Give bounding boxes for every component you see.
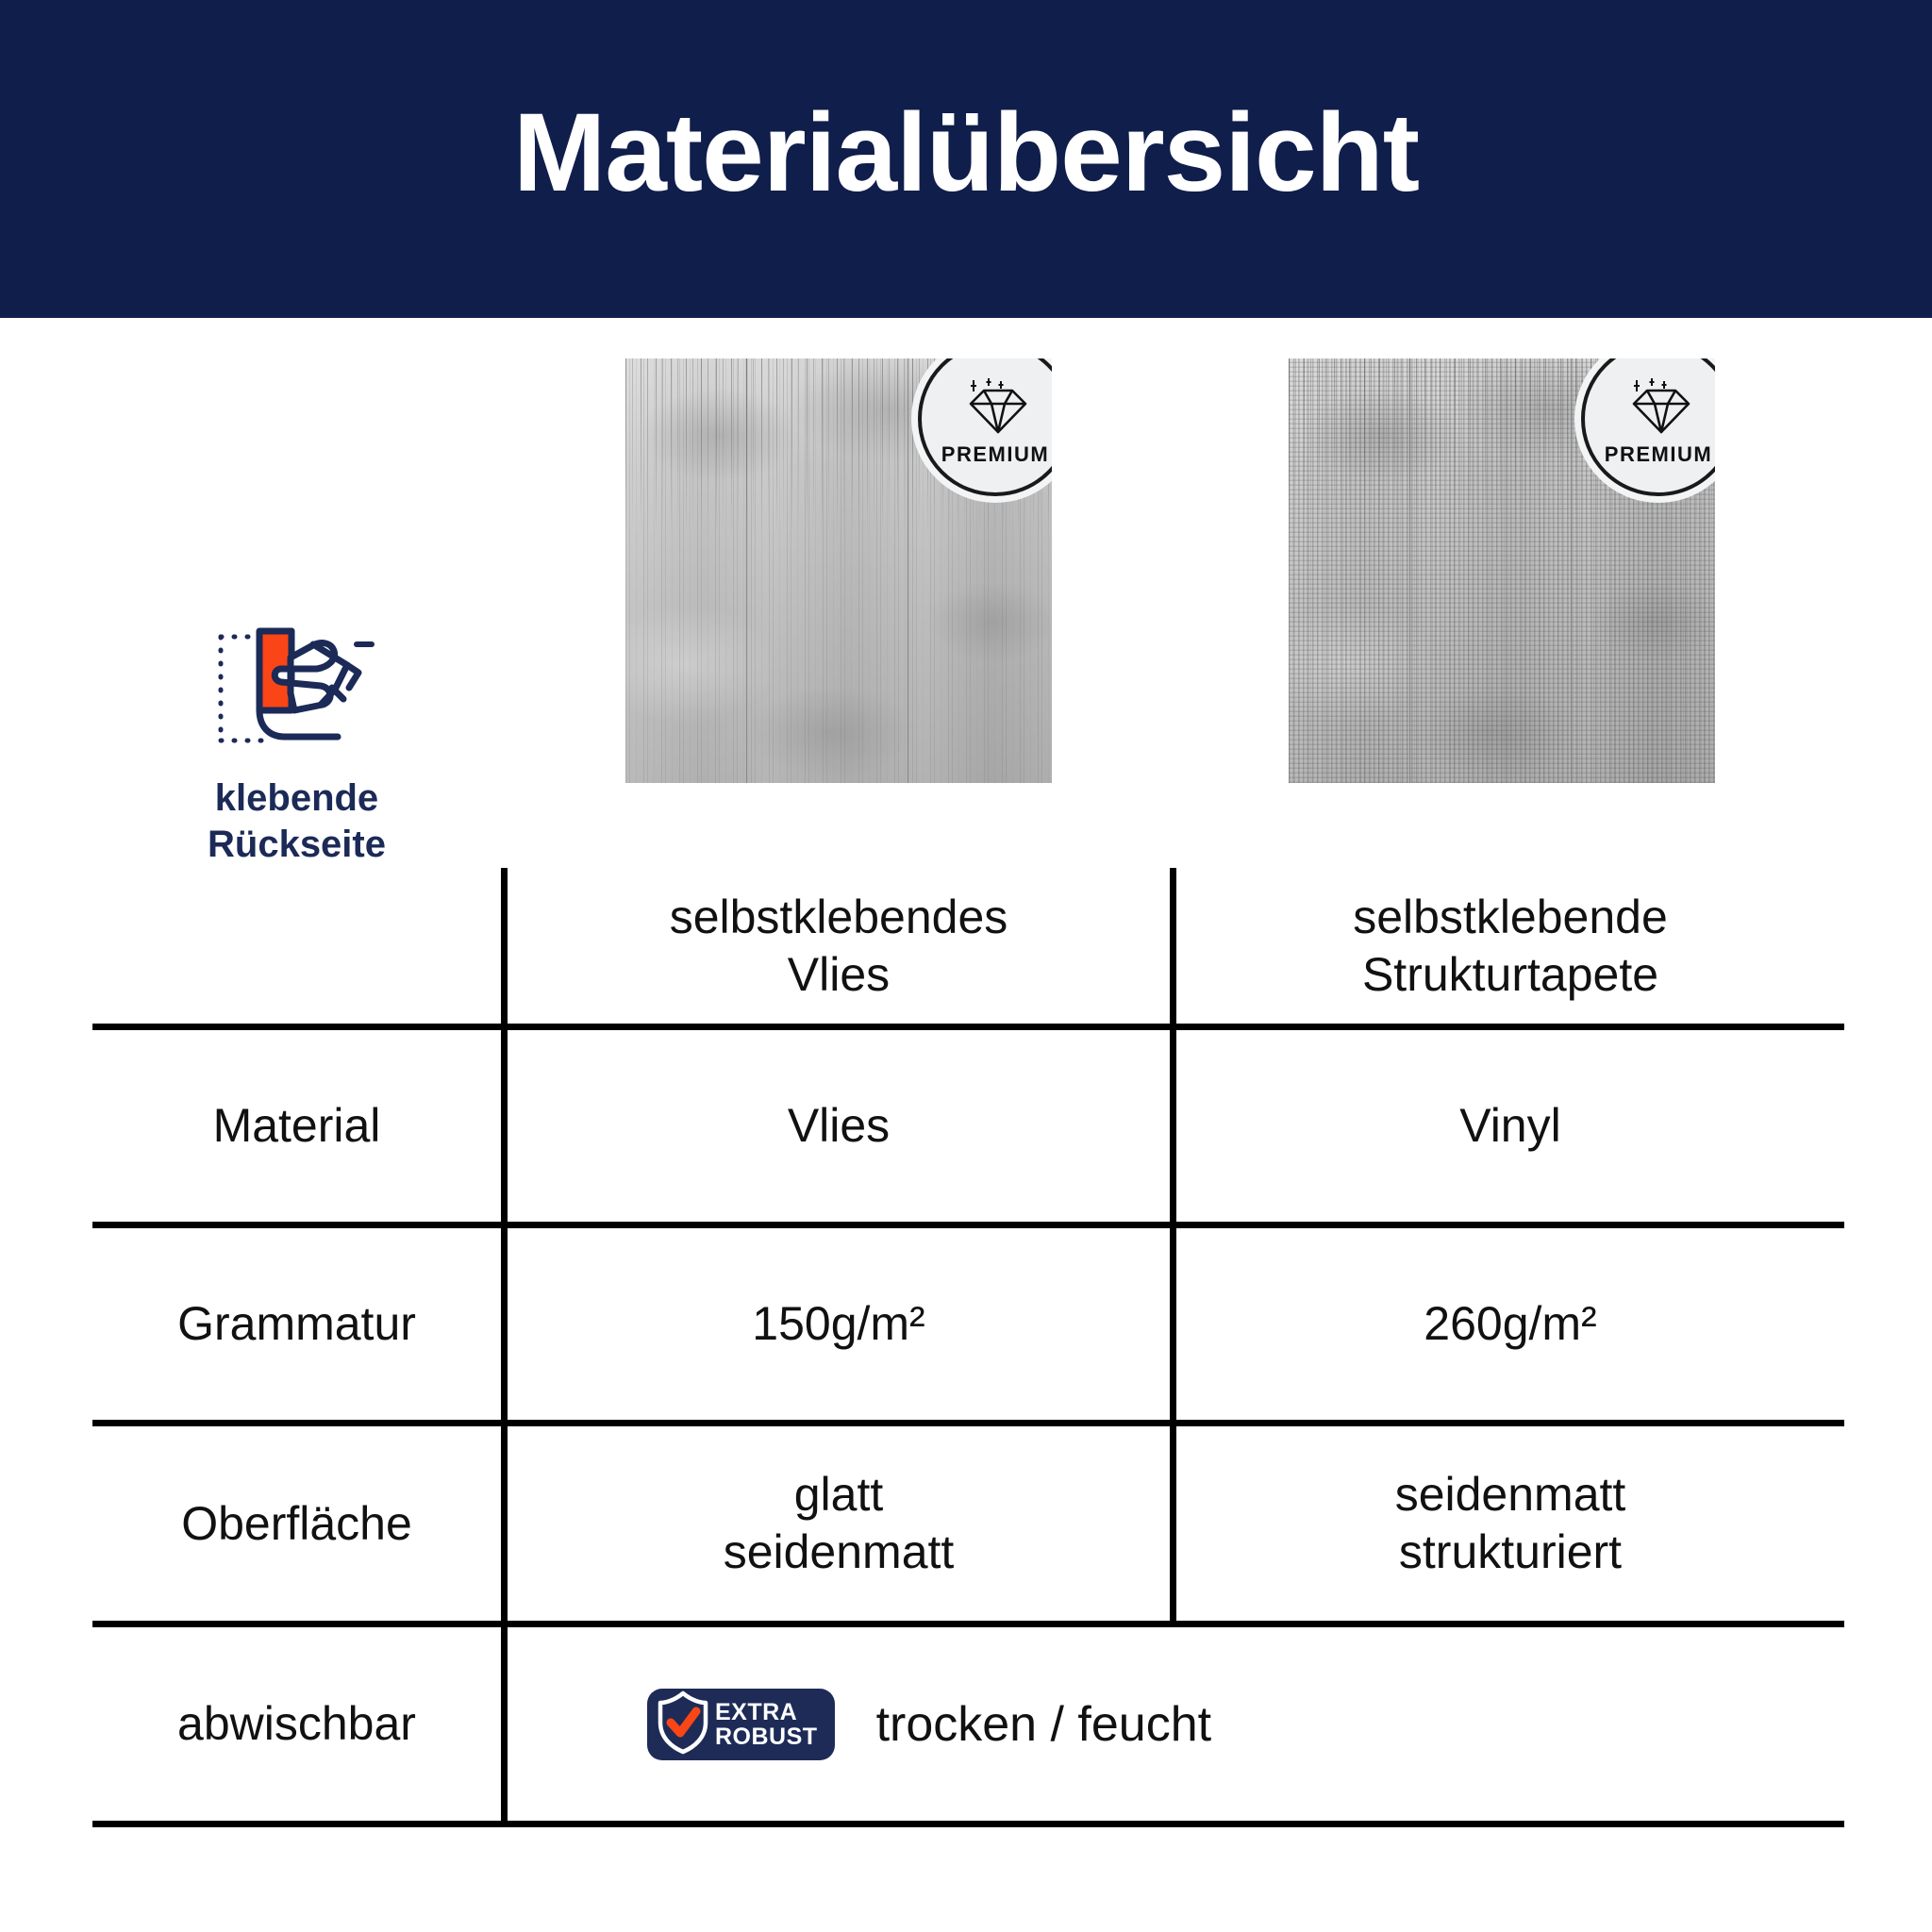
- col3-header-line2: Strukturtapete: [1353, 946, 1668, 1004]
- table-row-divider: [92, 1420, 1844, 1426]
- col2-header-line2: Vlies: [670, 946, 1008, 1004]
- concrete-seam-line: [1570, 358, 1573, 783]
- premium-badge-label: PREMIUM: [941, 442, 1049, 467]
- table-cell-grammatur-col2: 150g/m²: [508, 1228, 1170, 1420]
- sticky-back-caption-line2: Rückseite: [208, 822, 386, 868]
- table-bottom-divider: [92, 1821, 1844, 1827]
- table-cell-oberflaeche-col2: glatt seidenmatt: [508, 1426, 1170, 1621]
- sample-image-left: PREMIUM: [625, 358, 1052, 783]
- oberflaeche-col3-line2: strukturiert: [1395, 1524, 1626, 1581]
- shield-check-icon: [657, 1690, 709, 1759]
- table-cell-material-col2: Vlies: [508, 1030, 1170, 1222]
- table-cell-grammatur-col3: 260g/m²: [1176, 1228, 1844, 1420]
- extra-robust-line2: ROBUST: [715, 1724, 818, 1750]
- table-column-divider-2: [1170, 868, 1176, 1627]
- extra-robust-badge: EXTRA ROBUST: [647, 1689, 835, 1760]
- concrete-seam-line: [745, 358, 748, 783]
- sticky-back-caption-line1: klebende: [208, 775, 386, 822]
- header-banner: Materialübersicht: [0, 0, 1932, 318]
- sticky-back-caption: klebende Rückseite: [208, 775, 386, 868]
- table-header-cell-col2: selbstklebendes Vlies: [508, 868, 1170, 1024]
- table-row-divider: [92, 1222, 1844, 1228]
- table-column-divider-1: [501, 868, 508, 1827]
- table-row-divider: [92, 1621, 1844, 1627]
- table-row-label-material: Material: [92, 1030, 501, 1222]
- sticky-back-feature: klebende Rückseite: [92, 594, 501, 868]
- sample-image-right: PREMIUM: [1289, 358, 1715, 783]
- concrete-seam-line: [907, 358, 909, 783]
- col3-header-line1: selbstklebende: [1353, 889, 1668, 946]
- page-title: Materialübersicht: [0, 0, 1932, 318]
- abwischbar-value: trocken / feucht: [876, 1696, 1212, 1753]
- table-row-label-abwischbar: abwischbar: [92, 1627, 501, 1821]
- extra-robust-line1: EXTRA: [715, 1700, 818, 1725]
- table-row-label-oberflaeche: Oberfläche: [92, 1426, 501, 1621]
- diamond-icon: [1626, 377, 1696, 441]
- oberflaeche-col3-line1: seidenmatt: [1395, 1466, 1626, 1524]
- oberflaeche-col2-line2: seidenmatt: [724, 1524, 955, 1581]
- table-cell-oberflaeche-col3: seidenmatt strukturiert: [1176, 1426, 1844, 1621]
- table-cell-abwischbar-merged: EXTRA ROBUST trocken / feucht: [647, 1689, 1211, 1760]
- oberflaeche-col2-line1: glatt: [724, 1466, 955, 1524]
- peeling-sticker-hand-icon: [200, 620, 393, 766]
- table-header-cell-col3: selbstklebende Strukturtapete: [1176, 868, 1844, 1024]
- table-row-divider: [92, 1024, 1844, 1030]
- premium-badge-label: PREMIUM: [1605, 442, 1712, 467]
- col2-header-line1: selbstklebendes: [670, 889, 1008, 946]
- concrete-seam-line: [1408, 358, 1411, 783]
- diamond-icon: [963, 377, 1033, 441]
- table-cell-material-col3: Vinyl: [1176, 1030, 1844, 1222]
- table-row-label-grammatur: Grammatur: [92, 1228, 501, 1420]
